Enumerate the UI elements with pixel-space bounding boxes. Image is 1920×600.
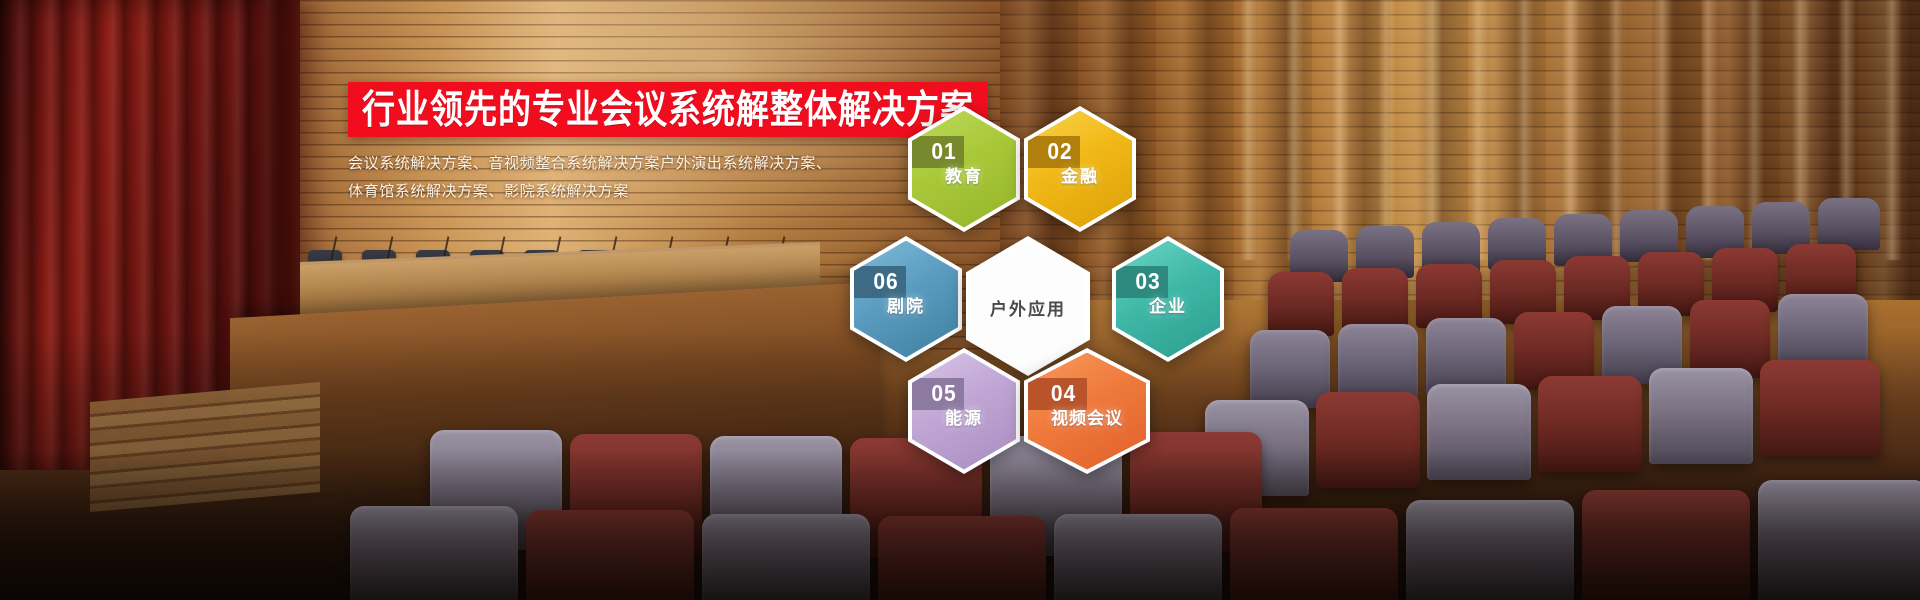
hex-number: 01 xyxy=(931,139,956,163)
application-hex-cluster: 01 教育 02 金融 06 剧院 xyxy=(830,100,1260,480)
hex-label: 金融 xyxy=(1028,162,1132,187)
hex-tile-education[interactable]: 01 教育 xyxy=(908,106,1020,232)
subtitle-line-2: 体育馆系统解决方案、影院系统解决方案 xyxy=(348,180,629,201)
hex-label: 户外应用 xyxy=(966,295,1090,320)
hex-tile-enterprise[interactable]: 03 企业 xyxy=(1112,236,1224,362)
hex-label: 教育 xyxy=(912,162,1016,187)
hex-number: 03 xyxy=(1135,269,1160,293)
hex-number: 05 xyxy=(931,381,956,405)
hex-label: 能源 xyxy=(912,404,1016,429)
hex-tile-theatre[interactable]: 06 剧院 xyxy=(850,236,962,362)
hex-tile-energy[interactable]: 05 能源 xyxy=(908,348,1020,474)
hex-number: 06 xyxy=(873,269,898,293)
hex-label: 企业 xyxy=(1116,292,1220,317)
hex-tile-finance[interactable]: 02 金融 xyxy=(1024,106,1136,232)
hero-banner: 行业领先的专业会议系统解整体解决方案 会议系统解决方案、音视频整合系统解决方案户… xyxy=(0,0,1920,600)
hex-tile-video-conference[interactable]: 04 视频会议 xyxy=(1024,348,1150,474)
hex-number: 04 xyxy=(1051,381,1076,405)
subtitle-line-1: 会议系统解决方案、音视频整合系统解决方案户外演出系统解决方案、 xyxy=(348,152,832,173)
hex-number: 02 xyxy=(1047,139,1072,163)
hex-label: 视频会议 xyxy=(1028,404,1146,429)
hex-label: 剧院 xyxy=(854,292,958,317)
